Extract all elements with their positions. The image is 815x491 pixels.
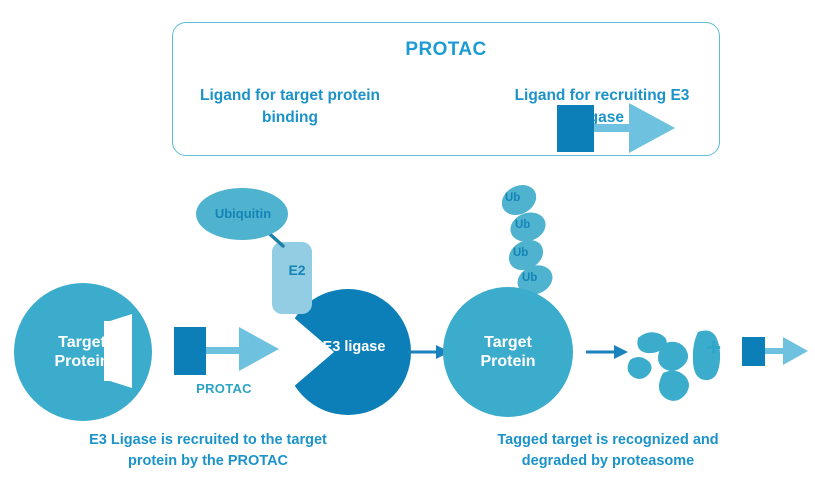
protac-square-icon [742, 337, 765, 366]
protac-linker-icon [765, 348, 785, 354]
caption-right-line2: degraded by proteasome [420, 451, 796, 472]
caption-right-panel: Tagged target is recognized and degraded… [420, 430, 796, 472]
protac-square-icon [557, 105, 594, 152]
plus-sign: + [706, 334, 721, 360]
protac-arrowhead-icon [239, 327, 279, 371]
peptide-fragment [658, 342, 688, 371]
e2-label: E2 [272, 262, 322, 278]
caption-left-panel: E3 Ligase is recruited to the target pro… [22, 430, 394, 472]
target-protein-shape-right [443, 287, 573, 417]
ub-tag-label: Ub [505, 192, 520, 204]
protac-arrowhead-icon [629, 103, 675, 153]
peptide-fragment [628, 357, 652, 379]
legend-title: PROTAC [173, 39, 719, 61]
protac-caption-label: PROTAC [176, 381, 272, 396]
ub-tag-label: Ub [515, 219, 530, 231]
ub-tag-label: Ub [522, 272, 537, 284]
protac-symbol-released [742, 335, 810, 369]
diagram-canvas: PROTAC Ligand for target protein binding… [0, 0, 815, 491]
protac-arrowhead-icon [783, 337, 808, 365]
mechanism-illustration [0, 170, 815, 430]
process-arrow-2 [586, 345, 628, 359]
protac-square-icon [174, 327, 206, 375]
protac-symbol-bound [174, 325, 284, 377]
ub-tag-label: Ub [513, 247, 528, 259]
legend-protac-symbol [557, 103, 675, 155]
ubiquitin-label: Ubiquitin [195, 206, 291, 221]
caption-right-line1: Tagged target is recognized and [420, 430, 796, 451]
legend-left-label: Ligand for target protein binding [195, 85, 385, 129]
e2-shape [272, 242, 312, 314]
protac-linker-icon [594, 124, 632, 132]
caption-left-line2: protein by the PROTAC [22, 451, 394, 472]
target-protein-notch-left [104, 314, 132, 388]
protac-linker-icon [206, 347, 242, 354]
peptide-fragment [659, 371, 689, 401]
legend-box: PROTAC Ligand for target protein binding… [172, 22, 720, 156]
legend-left-label-text: Ligand for target protein binding [200, 87, 380, 126]
caption-left-line1: E3 Ligase is recruited to the target [22, 430, 394, 451]
